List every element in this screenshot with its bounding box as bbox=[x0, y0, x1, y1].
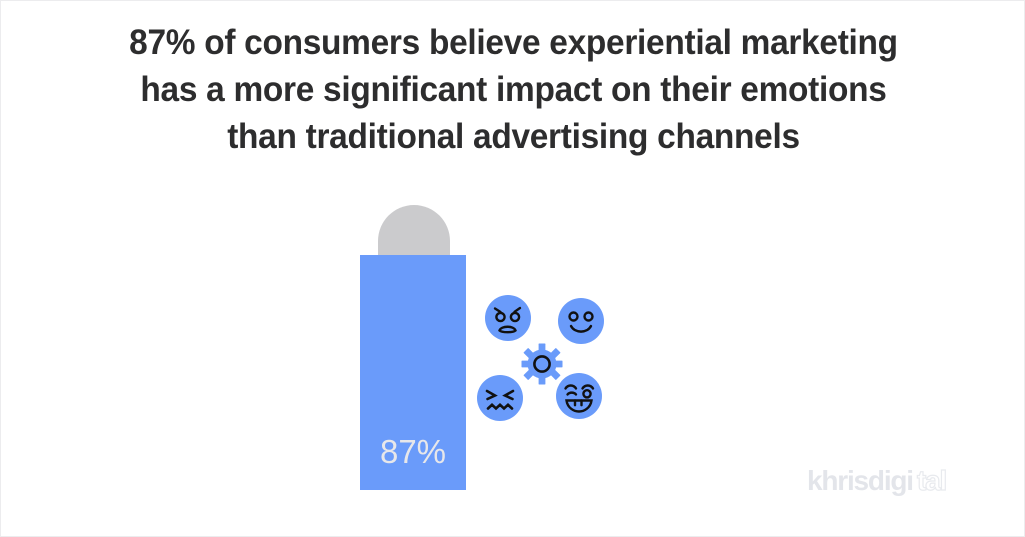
anguished-face-icon bbox=[485, 295, 531, 341]
page-title: 87% of consumers believe experiential ma… bbox=[1, 19, 1025, 160]
stat-bar-chart: 87% bbox=[360, 205, 466, 490]
headline-line-2: has a more significant impact on their e… bbox=[47, 66, 980, 113]
bar-value-label: 87% bbox=[360, 435, 466, 468]
logo-text-outline: tal bbox=[917, 465, 946, 496]
infographic-canvas: 87% of consumers believe experiential ma… bbox=[0, 0, 1025, 537]
logo-text-solid: khrisdigi bbox=[807, 465, 913, 496]
headline-line-1: 87% of consumers believe experiential ma… bbox=[47, 19, 980, 66]
brand-logo: khrisdigi tal bbox=[807, 464, 975, 498]
smiling-face-icon bbox=[558, 298, 604, 344]
gear-icon bbox=[521, 343, 563, 385]
emotion-icon-cluster bbox=[477, 295, 612, 430]
headline-line-3: than traditional advertising channels bbox=[47, 113, 980, 160]
confounded-face-icon bbox=[477, 375, 523, 421]
